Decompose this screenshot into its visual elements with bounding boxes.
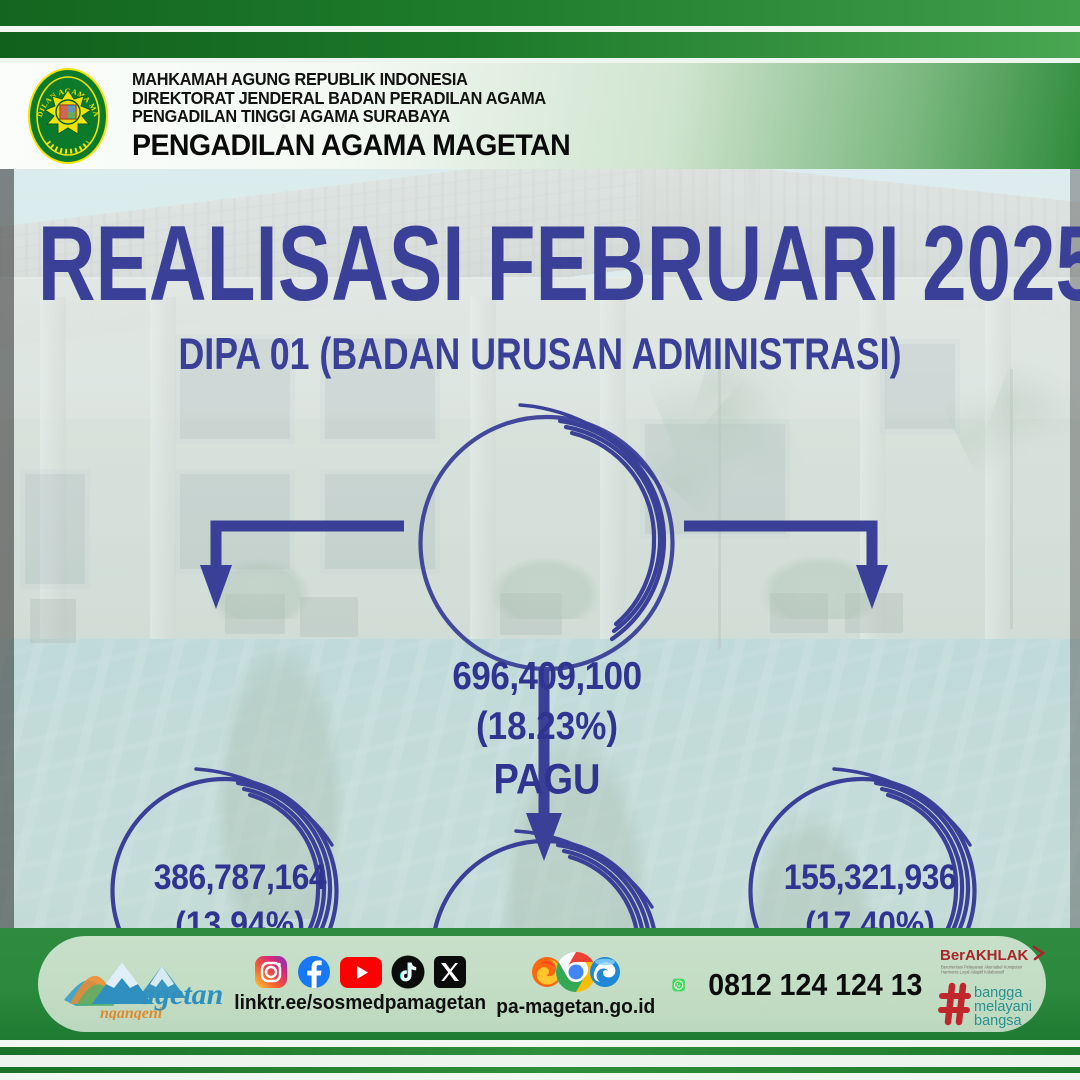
browser-icon-row [529,951,623,993]
svg-text:ngangeni: ngangeni [100,1005,163,1020]
poster-header: PENGADILAN AGAMA MAGETAN MAGETAN MAHKAMA… [0,63,1080,169]
instagram-icon[interactable] [254,955,288,989]
whatsapp-block: 0812 124 124 13 [672,960,932,1010]
bottom-green-band-1 [0,1047,1080,1055]
berakhlak-wordmark: BerAKHLAK [940,947,1029,964]
poster-body: REALISASI FEBRUARI 2025 DIPA 01 (BADAN U… [0,169,1080,1035]
header-line-1: MAHKAMAH AGUNG REPUBLIK INDONESIA [132,70,561,89]
social-link-text[interactable]: linktr.ee/sosmedpamagetan [234,992,486,1015]
circle-pagu [420,405,672,669]
belanja-pegawai-value: 386,787,164 [70,857,410,898]
svg-text:Harmonis Loyal Adaptif Kolabor: Harmonis Loyal Adaptif Kolaboratif [941,970,1005,975]
tiktok-icon[interactable] [391,955,425,989]
x-twitter-icon[interactable] [434,956,466,988]
header-line-3: PENGADILAN TINGGI AGAMA SURABAYA [132,107,561,126]
header-line-2: DIREKTORAT JENDERAL BADAN PERADILAN AGAM… [132,89,561,108]
pagu-percent: (18.23%) [392,705,702,749]
pagu-value: 696,409,100 [392,655,702,699]
belanja-barang-value: 155,321,936 [700,857,1040,898]
hash-mark-icon [941,986,968,1022]
youtube-icon[interactable] [340,957,382,988]
facebook-icon[interactable] [297,955,331,989]
top-green-band-1 [0,0,1080,26]
bottom-white-strip-3 [0,1073,1080,1080]
bottom-white-strip-1 [0,1040,1080,1047]
top-green-band-2 [0,32,1080,58]
pagu-label: PAGU [392,756,702,804]
infographic-poster: PENGADILAN AGAMA MAGETAN MAGETAN MAHKAMA… [0,0,1080,1080]
node-pagu: 696,409,100 (18.23%) PAGU [392,657,702,802]
whatsapp-icon[interactable] [672,962,685,1008]
website-text[interactable]: pa-magetan.go.id [497,996,656,1019]
court-seal-logo: PENGADILAN AGAMA MAGETAN MAGETAN [26,66,110,166]
website-block: pa-magetan.go.id [486,948,666,1022]
social-icon-row [254,955,466,989]
header-institution-name: PENGADILAN AGAMA MAGETAN [132,130,570,162]
berakhlak-brand-block: BerAKHLAK Berorientasi Pelayanan Akuntab… [936,944,1056,1028]
bottom-white-strip-2 [0,1055,1080,1067]
bangga-line-3: bangsa [974,1013,1023,1028]
edge-icon [587,954,623,990]
social-media-block: linktr.ee/sosmedpamagetan [240,948,480,1022]
magetan-ngangeni-logo: agetan ngangeni [56,948,241,1020]
whatsapp-number[interactable]: 0812 124 124 13 [709,967,923,1003]
